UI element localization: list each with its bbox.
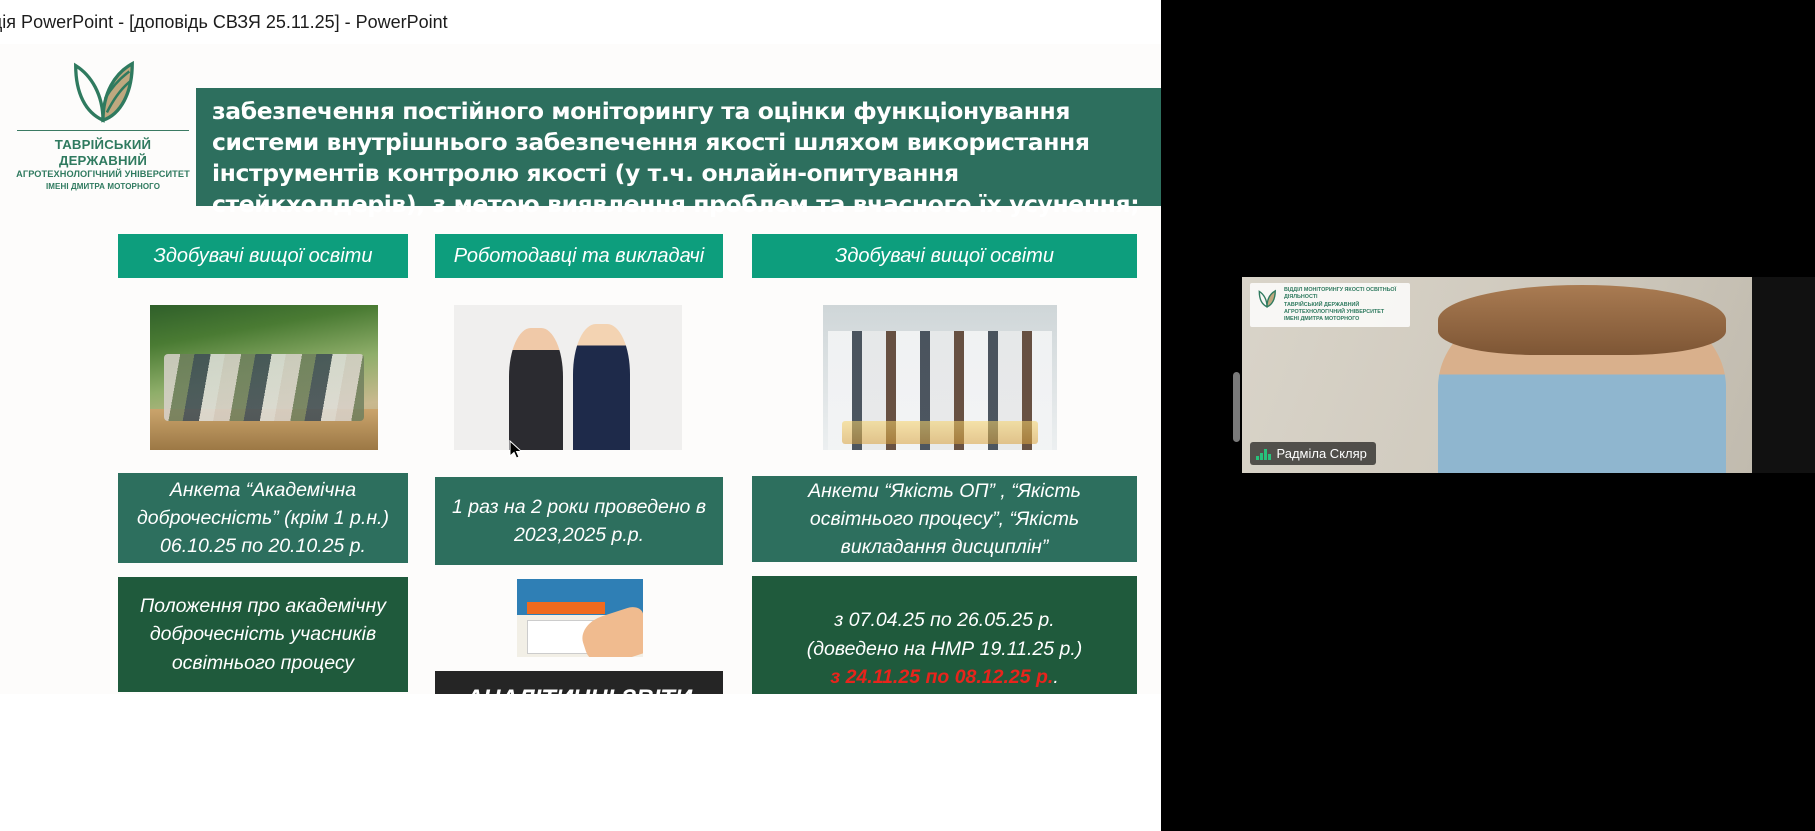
participant-hair <box>1438 285 1726 356</box>
video-conference-panel: ВІДДІЛ МОНІТОРИНГУ ЯКОСТІ ОСВІТНЬОЇ ДІЯЛ… <box>1161 0 1815 831</box>
students-in-lecture-hall-photo <box>150 305 378 450</box>
column-3-highlight-dates: з 24.11.25 по 08.12.25 р. <box>830 666 1053 688</box>
vertical-scrollbar[interactable] <box>1233 372 1240 442</box>
column-students-integrity: Здобувачі вищої освіти Анкета “Академічн… <box>118 234 408 692</box>
overlay-logo-line-2: ДІЯЛЬНОСТІ <box>1284 294 1404 301</box>
column-2-card-2: АНАЛІТИЧНІ ЗВІТИ ОПИТУВАНЬ <box>435 671 723 694</box>
column-employers-teachers: Роботодавці та викладачі 1 раз на 2 роки… <box>435 234 723 694</box>
slide-banner: забезпечення постійного моніторингу та о… <box>196 88 1164 206</box>
logo-divider <box>17 130 189 131</box>
column-3-card-2-line-1: з 07.04.25 по 26.05.25 р. <box>834 606 1054 634</box>
students-in-laboratory-photo <box>823 305 1057 450</box>
column-3-card-2-line-2: (доведено на НМР 19.11.25 р.) <box>807 635 1083 663</box>
participant-name-badge: Радміла Скляр <box>1250 442 1376 465</box>
overlay-logo-text: ВІДДІЛ МОНІТОРИНГУ ЯКОСТІ ОСВІТНЬОЇ ДІЯЛ… <box>1284 287 1404 323</box>
overlay-department-logo: ВІДДІЛ МОНІТОРИНГУ ЯКОСТІ ОСВІТНЬОЇ ДІЯЛ… <box>1250 283 1410 327</box>
column-3-card-2-line-3: з 24.11.25 по 08.12.25 р.. <box>830 663 1059 691</box>
screen-root: ція PowerPoint - [доповідь СВЗЯ 25.11.25… <box>0 0 1815 831</box>
participant-name: Радміла Скляр <box>1277 446 1367 461</box>
column-students-quality: Здобувачі вищої освіти Анкети “Якість ОП… <box>752 234 1137 694</box>
window-title: ція PowerPoint - [доповідь СВЗЯ 25.11.25… <box>0 12 448 33</box>
overlay-logo-line-1: ВІДДІЛ МОНІТОРИНГУ ЯКОСТІ ОСВІТНЬОЇ <box>1284 287 1404 294</box>
column-3-card-1: Анкети “Якість ОП” , “Якість освітнього … <box>752 476 1137 562</box>
microphone-level-icon <box>1256 448 1271 460</box>
survey-banner-chip <box>527 602 605 614</box>
leaf-logo-icon <box>64 50 142 128</box>
column-1-header: Здобувачі вищої освіти <box>118 234 408 278</box>
column-2-header: Роботодавці та викладачі <box>435 234 723 278</box>
online-survey-tablet-photo <box>517 579 643 657</box>
two-business-people-photo <box>454 305 682 450</box>
leaf-logo-icon <box>1256 287 1278 309</box>
logo-line-3: ІМЕНІ ДМИТРА МОТОРНОГО <box>14 182 192 192</box>
column-1-card-1: Анкета “Академічна доброчесність” (крім … <box>118 473 408 563</box>
banner-text: забезпечення постійного моніторингу та о… <box>212 96 1150 220</box>
column-3-header: Здобувачі вищої освіти <box>752 234 1137 278</box>
overlay-logo-line-4: ІМЕНІ ДМИТРА МОТОРНОГО <box>1284 316 1404 323</box>
column-3-card-2: з 07.04.25 по 26.05.25 р. (доведено на Н… <box>752 576 1137 694</box>
mouse-cursor-icon <box>509 440 523 460</box>
participant-video-tile[interactable]: ВІДДІЛ МОНІТОРИНГУ ЯКОСТІ ОСВІТНЬОЇ ДІЯЛ… <box>1242 277 1815 473</box>
university-logo: ТАВРІЙСЬКИЙ ДЕРЖАВНИЙ АГРОТЕХНОЛОГІЧНИЙ … <box>14 50 192 192</box>
column-2-card-1: 1 раз на 2 роки проведено в 2023,2025 р.… <box>435 477 723 565</box>
video-dark-edge <box>1752 277 1815 473</box>
column-3-highlight-suffix: . <box>1053 666 1058 688</box>
logo-line-2: АГРОТЕХНОЛОГІЧНИЙ УНІВЕРСИТЕТ <box>14 169 192 181</box>
column-1-card-2: Положення про академічну доброчесність у… <box>118 577 408 692</box>
overlay-logo-line-3: ТАВРІЙСЬКИЙ ДЕРЖАВНИЙ АГРОТЕХНОЛОГІЧНИЙ … <box>1284 302 1404 317</box>
logo-line-1: ТАВРІЙСЬКИЙ ДЕРЖАВНИЙ <box>14 137 192 168</box>
